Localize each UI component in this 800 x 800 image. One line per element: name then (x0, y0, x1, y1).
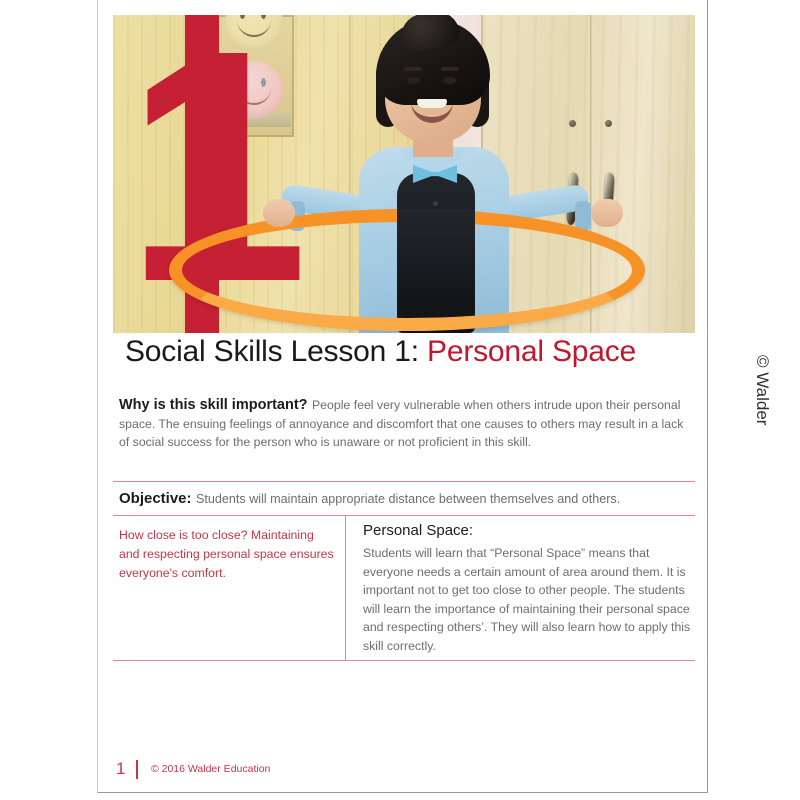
why-heading: Why is this skill important? (119, 397, 308, 413)
girl-eye (407, 77, 420, 84)
column-divider (345, 516, 346, 660)
objective-body: Students will maintain appropriate dista… (196, 492, 620, 506)
why-section: Why is this skill important? People feel… (119, 396, 689, 452)
objective-section: Objective: Students will maintain approp… (119, 490, 694, 509)
girl-right-hand (591, 199, 623, 227)
footer-copyright: © 2016 Walder Education (138, 763, 270, 775)
girl-left-hand (263, 199, 295, 227)
vest-button (433, 201, 438, 206)
lesson-page: 1 Social Skills Lesson 1: Personal Space (97, 0, 708, 793)
cabinet-knob (605, 120, 612, 127)
objective-heading: Objective: (119, 490, 192, 507)
objective-rule-bottom (113, 515, 695, 516)
content-rule-bottom (113, 660, 695, 661)
side-note: How close is too close? Maintaining and … (119, 526, 334, 583)
watermark-walder: © Walder (752, 355, 772, 485)
page-number: 1 (116, 759, 136, 779)
girl-eyebrow (404, 67, 422, 71)
page-title: Social Skills Lesson 1: Personal Space (125, 333, 695, 371)
personal-space-block: Personal Space: Students will learn that… (363, 522, 695, 655)
personal-space-body: Students will learn that “Personal Space… (363, 544, 695, 655)
objective-rule-top (113, 481, 695, 482)
page-title-black: Social Skills Lesson 1: (125, 335, 419, 368)
girl-eyebrow (441, 67, 459, 71)
hoop-highlight (169, 209, 645, 331)
cabinet-knob (569, 120, 576, 127)
personal-space-heading: Personal Space: (363, 522, 695, 539)
page-title-red: Personal Space (427, 335, 636, 368)
page-footer: 1 © 2016 Walder Education (116, 758, 270, 780)
lesson-header-photo: 1 (113, 15, 695, 333)
girl-eye (443, 77, 456, 84)
